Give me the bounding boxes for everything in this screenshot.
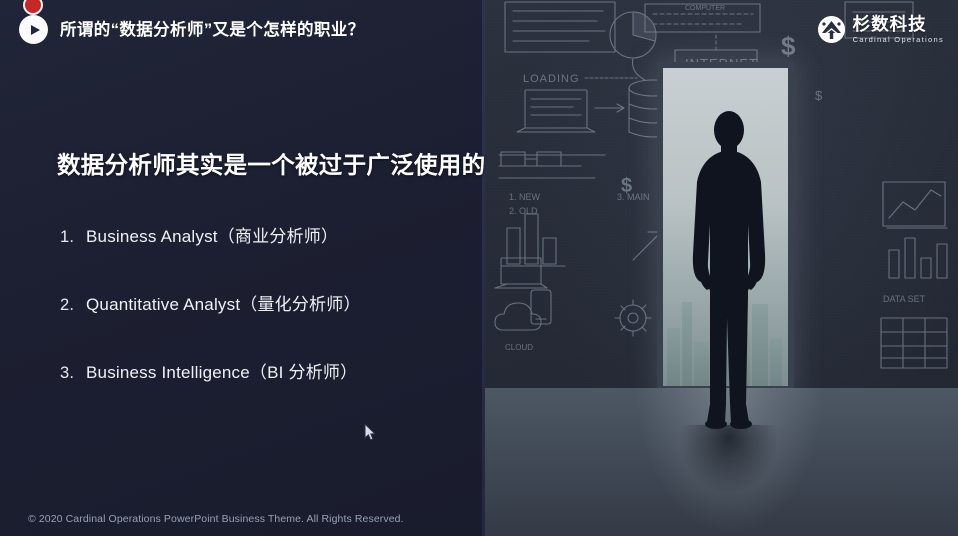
svg-text:LOADING: LOADING — [523, 73, 580, 85]
logo-text: 杉数科技 Cardinal Operations — [853, 16, 944, 43]
play-triangle-icon — [31, 25, 40, 35]
slide-photo-chalkboard: COMPUTER INTERNET $ $ $ LOADING — [485, 0, 958, 536]
analyst-role-list: 1. Business Analyst（商业分析师） 2. Quantitati… — [60, 222, 460, 426]
mouse-cursor — [364, 423, 377, 447]
list-item-number: 2. — [60, 296, 86, 315]
list-item-label: Business Intelligence（BI 分析师） — [86, 358, 357, 383]
list-item-label: Business Analyst（商业分析师） — [86, 222, 338, 247]
page-title: 所谓的“数据分析师”又是个怎样的职业？ — [60, 16, 365, 40]
brand-logo: 杉数科技 Cardinal Operations — [817, 15, 944, 44]
svg-text:$: $ — [781, 31, 796, 61]
logo-name-cn: 杉数科技 — [853, 16, 944, 34]
svg-text:COMPUTER: COMPUTER — [685, 5, 725, 12]
list-item-number: 3. — [60, 364, 86, 383]
slide-heading: 数据分析师其实是一个被过于广泛使用的名称。 — [57, 146, 485, 180]
list-item: 3. Business Intelligence（BI 分析师） — [60, 358, 460, 383]
copyright-footer: © 2020 Cardinal Operations PowerPoint Bu… — [28, 513, 404, 525]
cardinal-logo-icon — [817, 15, 846, 44]
businessman-silhouette — [683, 104, 775, 436]
svg-text:1. NEW: 1. NEW — [509, 192, 541, 202]
list-item-number: 1. — [60, 228, 86, 247]
svg-text:3. MAIN: 3. MAIN — [617, 192, 650, 202]
logo-name-en: Cardinal Operations — [853, 36, 944, 44]
list-item: 2. Quantitative Analyst（量化分析师） — [60, 290, 460, 315]
svg-text:CLOUD: CLOUD — [505, 343, 533, 352]
svg-text:DATA SET: DATA SET — [883, 294, 926, 304]
slide-left-panel: 所谓的“数据分析师”又是个怎样的职业？ 数据分析师其实是一个被过于广泛使用的名称… — [0, 0, 485, 536]
record-dot-icon[interactable] — [23, 0, 43, 15]
play-icon[interactable] — [19, 15, 48, 44]
list-item-label: Quantitative Analyst（量化分析师） — [86, 290, 361, 315]
svg-text:$: $ — [815, 88, 823, 103]
presentation-slide: 所谓的“数据分析师”又是个怎样的职业？ 数据分析师其实是一个被过于广泛使用的名称… — [0, 0, 958, 536]
list-item: 1. Business Analyst（商业分析师） — [60, 222, 460, 247]
